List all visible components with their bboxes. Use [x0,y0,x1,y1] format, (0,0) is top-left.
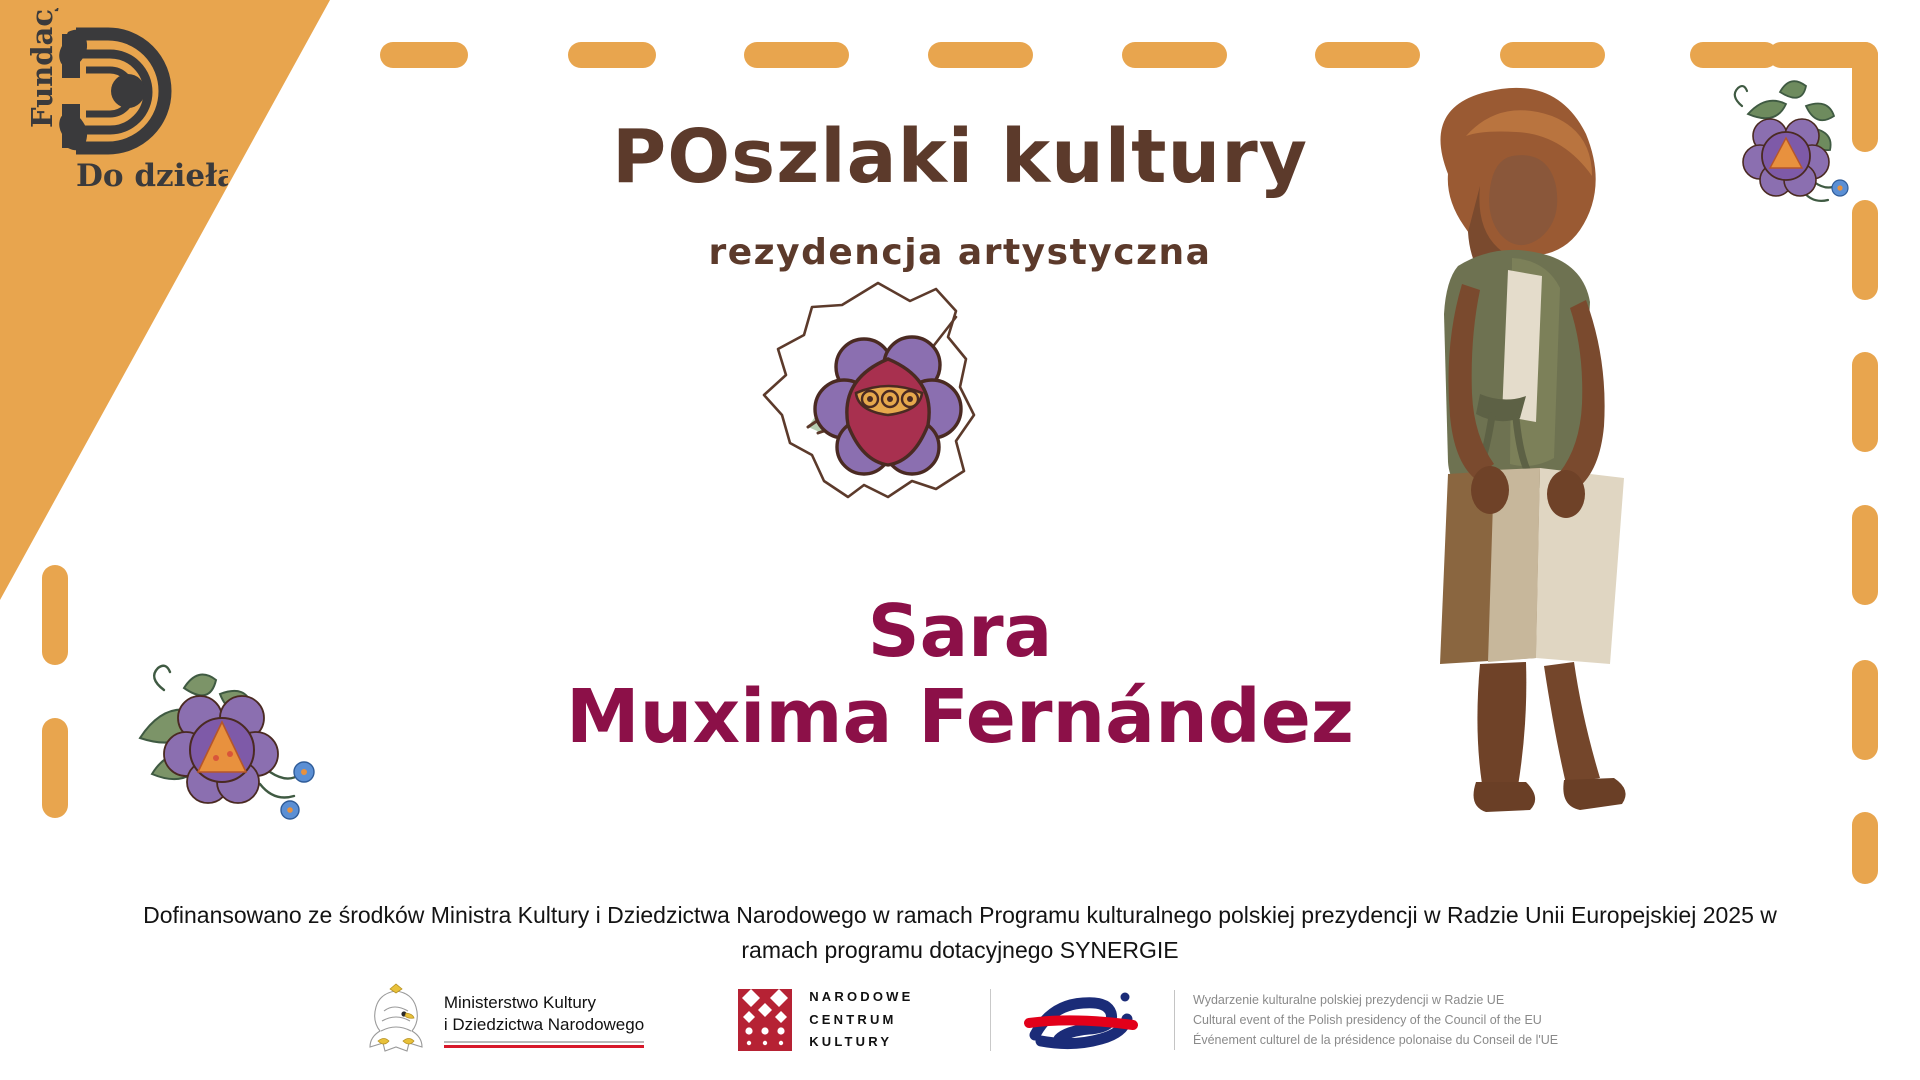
nck-line-3: KULTURY [809,1031,913,1053]
page-subtitle: rezydencja artystyczna [0,235,1920,271]
logo-nck: NARODOWE CENTRUM KULTURY [690,986,959,1053]
frame-dash-top [568,42,656,68]
eu-line-en: Cultural event of the Polish presidency … [1193,1010,1558,1030]
nck-line-1: NARODOWE [809,986,913,1008]
artist-name: Sara Muxima Fernández [0,590,1920,762]
frame-dash-top [380,42,468,68]
frame-dash-top [928,42,1033,68]
map-illustration [760,275,1040,570]
artist-given-name: Sara [0,590,1920,673]
polish-eagle-emblem-icon [362,983,430,1057]
logo-divider [990,989,992,1051]
ministry-line-2: i Dziedzictwa Narodowego [444,1014,644,1036]
poster-canvas: Fundacja Do dzieła POszlaki ku [0,0,1920,1080]
artist-family-name: Muxima Fernández [0,673,1920,762]
logo-strip: Ministerstwo Kultury i Dziedzictwa Narod… [0,974,1920,1066]
frame-corner-bottom-right [1852,812,1878,884]
eu-presidency-mark-icon [1021,989,1156,1051]
funding-statement: Dofinansowano ze środków Ministra Kultur… [110,898,1810,967]
folk-rose [815,337,961,474]
nck-diamond-mark-icon [736,987,794,1053]
ministry-rule-grey [444,1041,644,1043]
ministry-rule-red [444,1045,644,1048]
frame-dash-top [1315,42,1420,68]
nck-line-2: CENTRUM [809,1009,913,1031]
foundation-wordmark-top: Fundacja [25,8,59,128]
eu-line-pl: Wydarzenie kulturalne polskiej prezydenc… [1193,990,1558,1010]
logo-eu-presidency: Wydarzenie kulturalne polskiej prezydenc… [1021,989,1558,1051]
frame-dash-top [1500,42,1605,68]
eu-wordmark: Wydarzenie kulturalne polskiej prezydenc… [1174,990,1558,1051]
nck-wordmark: NARODOWE CENTRUM KULTURY [809,986,913,1053]
page-title: POszlaki kultury [0,120,1920,194]
eu-line-fr: Événement culturel de la présidence polo… [1193,1030,1558,1050]
logo-ministry-of-culture: Ministerstwo Kultury i Dziedzictwa Narod… [362,983,690,1057]
ministry-line-1: Ministerstwo Kultury [444,992,644,1014]
ministry-wordmark: Ministerstwo Kultury i Dziedzictwa Narod… [444,992,644,1048]
frame-dash-top [1122,42,1227,68]
frame-dash-top [1690,42,1778,68]
frame-dash-top [744,42,849,68]
frame-dash-right [1852,352,1878,452]
